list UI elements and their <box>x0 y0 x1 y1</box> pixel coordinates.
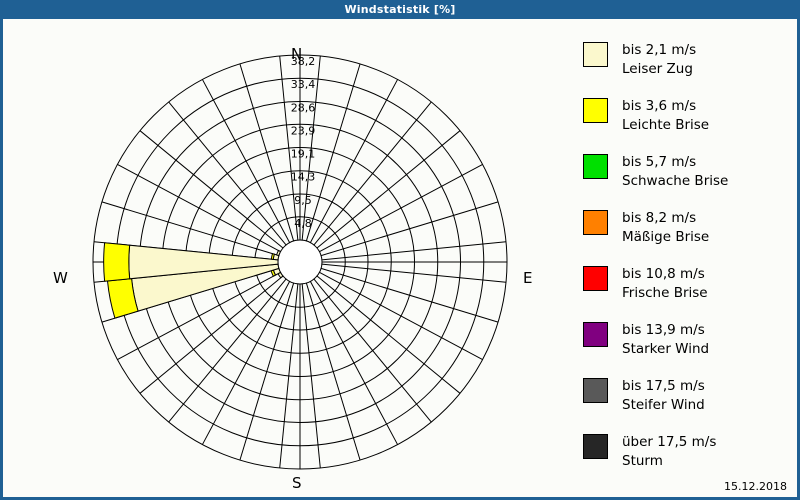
legend-label: bis 13,9 m/sStarker Wind <box>622 321 709 359</box>
wind-rose-segment <box>104 243 130 281</box>
legend-label: bis 2,1 m/sLeiser Zug <box>622 41 696 79</box>
radial-tick-label: 4,8 <box>294 217 312 230</box>
legend-beaufort-name: Steifer Wind <box>622 396 705 415</box>
legend-item[interactable]: bis 5,7 m/sSchwache Brise <box>583 153 797 200</box>
compass-label-west: W <box>53 269 68 287</box>
radial-tick-label: 33,4 <box>291 78 316 91</box>
windstatistik-window: Windstatistik [%] 4,89,514,319,123,928,6… <box>0 0 800 500</box>
legend-color-swatch <box>583 42 608 67</box>
compass-label-south: S <box>292 474 302 492</box>
legend-speed-range: bis 10,8 m/s <box>622 266 705 282</box>
legend-label: bis 17,5 m/sSteifer Wind <box>622 377 705 415</box>
radial-tick-label: 9,5 <box>294 194 312 207</box>
legend-speed-range: bis 3,6 m/s <box>622 98 696 114</box>
legend-beaufort-name: Leiser Zug <box>622 60 696 79</box>
wind-rose-segment <box>271 254 274 260</box>
radial-tick-label: 14,3 <box>291 171 316 184</box>
compass-label-north: N <box>291 45 302 63</box>
wind-rose-svg: 4,89,514,319,123,928,633,438,2 <box>3 19 603 497</box>
legend-label: bis 8,2 m/sMäßige Brise <box>622 209 709 247</box>
radial-tick-label: 19,1 <box>291 148 316 161</box>
legend-beaufort-name: Starker Wind <box>622 340 709 359</box>
wind-rose-sectors <box>104 243 283 318</box>
legend-beaufort-name: Sturm <box>622 452 716 471</box>
legend-item[interactable]: bis 2,1 m/sLeiser Zug <box>583 41 797 88</box>
legend-color-swatch <box>583 210 608 235</box>
legend-beaufort-name: Leichte Brise <box>622 116 709 135</box>
legend-speed-range: bis 17,5 m/s <box>622 378 705 394</box>
legend-color-swatch <box>583 154 608 179</box>
legend-speed-range: bis 8,2 m/s <box>622 210 696 226</box>
legend-color-swatch <box>583 322 608 347</box>
radial-tick-label: 23,9 <box>291 124 316 137</box>
chart-canvas: 4,89,514,319,123,928,633,438,2 N S W E b… <box>3 19 797 497</box>
legend-item[interactable]: bis 3,6 m/sLeichte Brise <box>583 97 797 144</box>
legend-label: bis 5,7 m/sSchwache Brise <box>622 153 728 191</box>
legend-label: bis 3,6 m/sLeichte Brise <box>622 97 709 135</box>
legend-color-swatch <box>583 434 608 459</box>
legend-color-swatch <box>583 378 608 403</box>
legend-item[interactable]: bis 17,5 m/sSteifer Wind <box>583 377 797 424</box>
legend-speed-range: bis 5,7 m/s <box>622 154 696 170</box>
wind-speed-legend: bis 2,1 m/sLeiser Zugbis 3,6 m/sLeichte … <box>583 41 797 489</box>
radial-tick-label: 28,6 <box>291 101 316 114</box>
calm-circle <box>278 240 322 284</box>
legend-label: über 17,5 m/sSturm <box>622 433 716 471</box>
legend-beaufort-name: Schwache Brise <box>622 172 728 191</box>
legend-speed-range: über 17,5 m/s <box>622 434 716 450</box>
window-title: Windstatistik [%] <box>344 3 455 16</box>
date-stamp: 15.12.2018 <box>724 480 787 493</box>
legend-item[interactable]: bis 13,9 m/sStarker Wind <box>583 321 797 368</box>
legend-color-swatch <box>583 266 608 291</box>
legend-color-swatch <box>583 98 608 123</box>
legend-label: bis 10,8 m/sFrische Brise <box>622 265 708 303</box>
legend-beaufort-name: Frische Brise <box>622 284 708 303</box>
window-title-bar: Windstatistik [%] <box>0 0 800 19</box>
legend-item[interactable]: bis 8,2 m/sMäßige Brise <box>583 209 797 256</box>
legend-item[interactable]: bis 10,8 m/sFrische Brise <box>583 265 797 312</box>
legend-speed-range: bis 13,9 m/s <box>622 322 705 338</box>
wind-rose-plot: 4,89,514,319,123,928,633,438,2 <box>3 19 603 497</box>
compass-label-east: E <box>523 269 532 287</box>
legend-beaufort-name: Mäßige Brise <box>622 228 709 247</box>
calm-circle <box>278 240 322 284</box>
legend-item[interactable]: über 17,5 m/sSturm <box>583 433 797 480</box>
legend-speed-range: bis 2,1 m/s <box>622 42 696 58</box>
